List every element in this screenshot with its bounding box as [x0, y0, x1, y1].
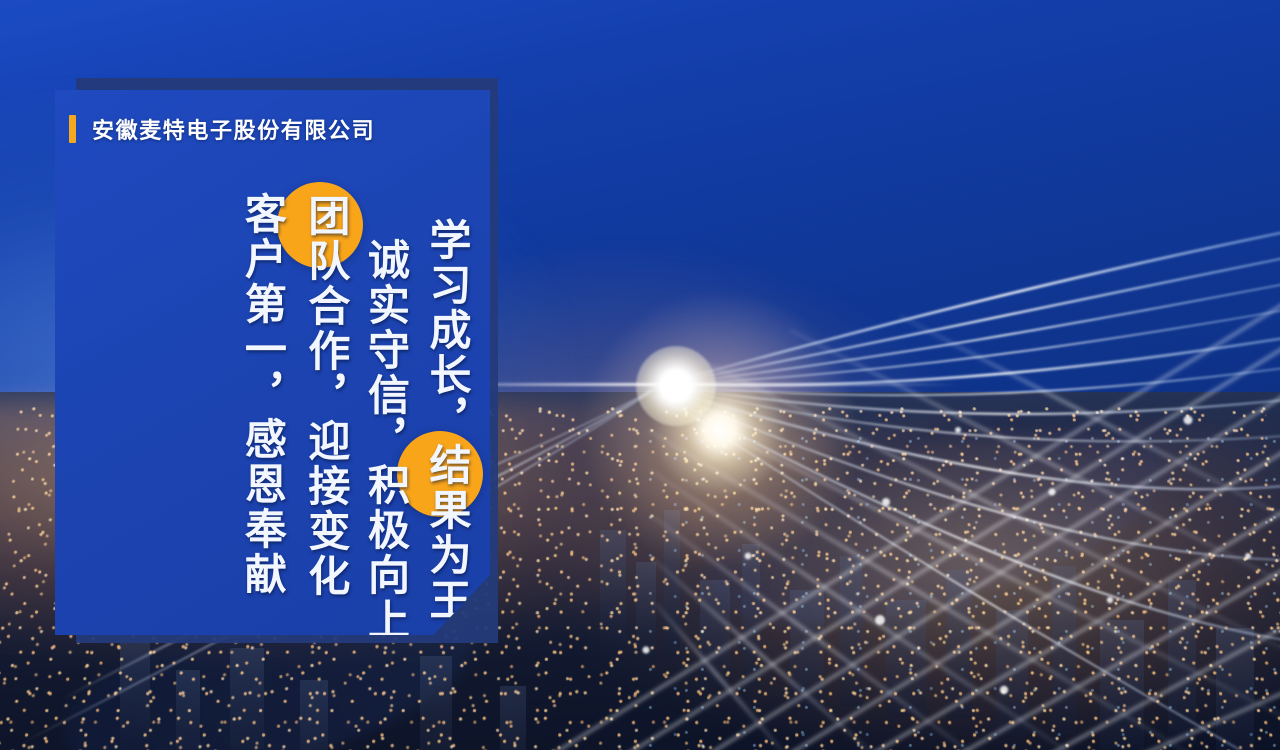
slogan-char: 客 [238, 192, 288, 237]
slogan-char: 化 [301, 554, 351, 599]
slogan-char: 接 [301, 464, 351, 509]
slogan-char: 变 [301, 509, 351, 554]
slogan-column-customer: 客户第一，感恩奉献 [238, 192, 288, 631]
slogan-char: 团 [301, 194, 351, 239]
slogan-char: 第 [238, 282, 288, 327]
slogan-char: 守 [361, 328, 411, 373]
slogan-char: 合 [301, 284, 351, 329]
slogan-char: 极 [361, 508, 411, 553]
slogan-char: 结 [422, 443, 472, 488]
slogan-char: 户 [238, 237, 288, 282]
slogan-char: 长 [422, 353, 472, 398]
slogan-char: ， [361, 418, 411, 463]
slogan-column-learning: 学习成长，结果为王 [422, 218, 472, 631]
slogan-columns: 学习成长，结果为王 诚实守信，积极向上 团队合作，迎接变化 客户第一，感恩奉献 [55, 176, 490, 631]
slogan-char: ， [422, 398, 472, 443]
slogan-char: 一 [238, 327, 288, 372]
slogan-char: 迎 [301, 419, 351, 464]
slogan-char: 诚 [361, 238, 411, 283]
slogan-column-teamwork: 团队合作，迎接变化 [301, 194, 351, 631]
slogan-char: ， [301, 374, 351, 419]
slogan-char: 向 [361, 553, 411, 598]
slogan-char: 信 [361, 373, 411, 418]
slogan-column-integrity: 诚实守信，积极向上 [361, 238, 411, 631]
culture-panel: 安徽麦特电子股份有限公司 学习成长，结果为王 诚实守信，积极向上 团队合作，迎接… [55, 90, 490, 635]
slogan-char: 感 [238, 417, 288, 462]
slogan-char: 作 [301, 329, 351, 374]
banner-stage: 安徽麦特电子股份有限公司 学习成长，结果为王 诚实守信，积极向上 团队合作，迎接… [0, 0, 1280, 750]
slogan-char: 为 [422, 533, 472, 578]
orange-accent-bar [69, 115, 76, 143]
panel-header: 安徽麦特电子股份有限公司 [55, 108, 490, 150]
company-title: 安徽麦特电子股份有限公司 [92, 113, 375, 145]
slogan-char: ， [238, 372, 288, 417]
slogan-char: 献 [238, 552, 288, 597]
slogan-char: 恩 [238, 462, 288, 507]
slogan-char: 队 [301, 239, 351, 284]
slogan-char: 成 [422, 308, 472, 353]
slogan-char: 学 [422, 218, 472, 263]
slogan-char: 奉 [238, 507, 288, 552]
slogan-char: 实 [361, 283, 411, 328]
slogan-char: 果 [422, 488, 472, 533]
slogan-char: 习 [422, 263, 472, 308]
slogan-char: 积 [361, 463, 411, 508]
